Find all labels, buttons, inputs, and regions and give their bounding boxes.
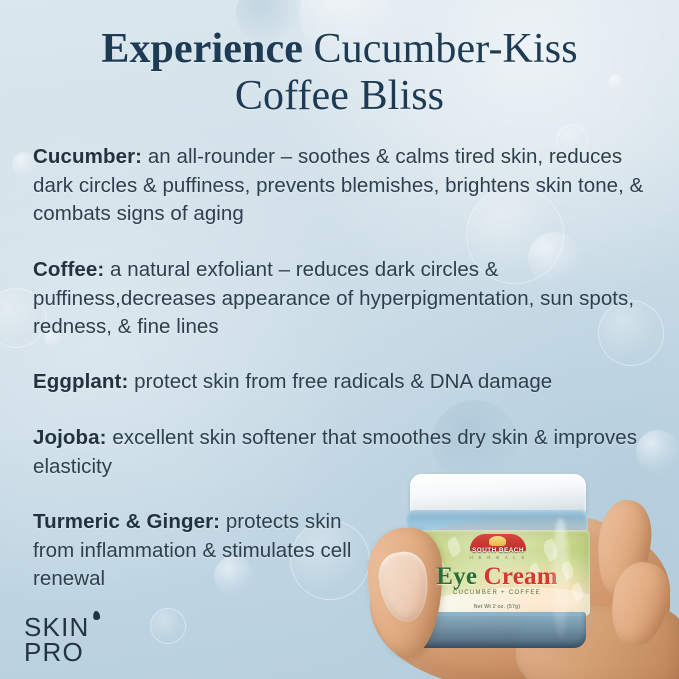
product-name: Eye Cream <box>404 564 590 590</box>
ingredient-label-cucumber: Cucumber: <box>33 145 142 168</box>
headline-line1-rest: Cucumber-Kiss <box>303 26 578 72</box>
water-droplet-icon <box>93 611 101 621</box>
product-name-part2: Cream <box>484 563 558 590</box>
ingredient-block-coffee: Coffee: a natural exfoliant – reduces da… <box>33 256 635 342</box>
brand-name: SOUTH BEACH <box>456 547 540 554</box>
product-photo: SOUTH BEACH H E R B A L S Eye Cream CUCU… <box>366 456 679 679</box>
ingredient-label-turmeric-ginger: Turmeric & Ginger: <box>33 510 220 533</box>
ingredient-block-turmeric-ginger: Turmeric & Ginger: protects skin from in… <box>33 508 385 594</box>
ingredient-label-eggplant: Eggplant: <box>33 370 128 393</box>
background-bubble <box>150 608 186 644</box>
ingredient-block-cucumber: Cucumber: an all-rounder – soothes & cal… <box>33 143 651 229</box>
ingredient-description-eggplant: protect skin from free radicals & DNA da… <box>128 370 552 393</box>
product-name-part1: Eye <box>436 563 477 590</box>
logo-line-pro: PRO <box>24 640 89 665</box>
net-weight: Net Wt 2 oz. (57g) <box>404 604 590 610</box>
ingredient-label-coffee: Coffee: <box>33 258 104 281</box>
leaf-pattern-icon <box>540 538 561 562</box>
brand-badge: SOUTH BEACH H E R B A L S <box>456 534 540 564</box>
ingredient-block-eggplant: Eggplant: protect skin from free radical… <box>33 368 651 397</box>
headline-line2: Coffee Bliss <box>0 73 679 120</box>
ingredient-description-coffee: a natural exfoliant – reduces dark circl… <box>33 258 634 338</box>
ingredient-label-jojoba: Jojoba: <box>33 426 107 449</box>
page-title: Experience Cucumber-Kiss Coffee Bliss <box>0 26 679 120</box>
headline-emphasis: Experience <box>101 26 303 72</box>
brand-subtitle: H E R B A L S <box>456 555 540 560</box>
sunrise-icon <box>489 536 506 546</box>
product-benefits-poster: Experience Cucumber-Kiss Coffee Bliss Cu… <box>0 0 679 679</box>
product-variant: CUCUMBER + COFFEE <box>404 590 590 596</box>
skin-pro-logo: SKIN PRO <box>24 615 89 665</box>
